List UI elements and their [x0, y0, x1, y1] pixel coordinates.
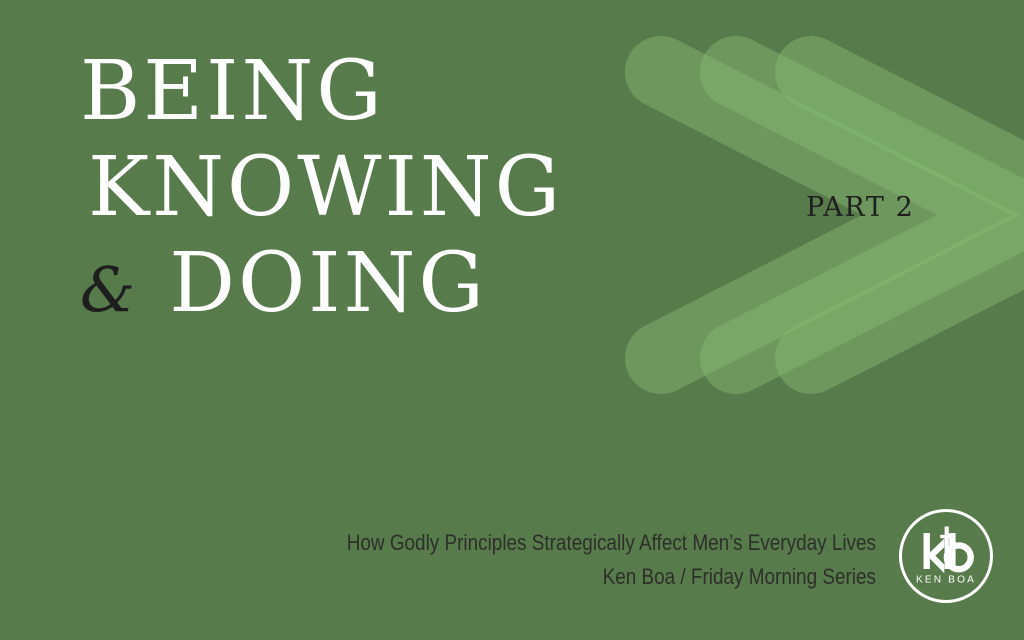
logo-letter-k-arms [930, 539, 944, 574]
ampersand-glyph: & [80, 242, 135, 338]
slide-subtitle-block: How Godly Principles Strategically Affec… [236, 526, 876, 594]
logo-letter-k-stem [924, 533, 930, 569]
title-line-doing: DOING [169, 236, 487, 332]
presentation-slide: BEING KNOWING & DOING PART 2 How Godly P… [0, 0, 1024, 640]
logo-wordmark: KEN BOA [916, 575, 976, 586]
slide-title: BEING KNOWING & DOING [78, 44, 718, 338]
title-line-being: BEING [80, 44, 718, 140]
title-line-knowing: KNOWING [88, 140, 718, 236]
part-number-badge: PART 2 [806, 192, 914, 223]
subtitle-description: How Godly Principles Strategically Affec… [326, 526, 876, 560]
subtitle-presenter: Ken Boa / Friday Morning Series [326, 560, 876, 594]
title-line-doing-row: & DOING [80, 236, 718, 338]
ken-boa-logo: KEN BOA [896, 506, 996, 606]
